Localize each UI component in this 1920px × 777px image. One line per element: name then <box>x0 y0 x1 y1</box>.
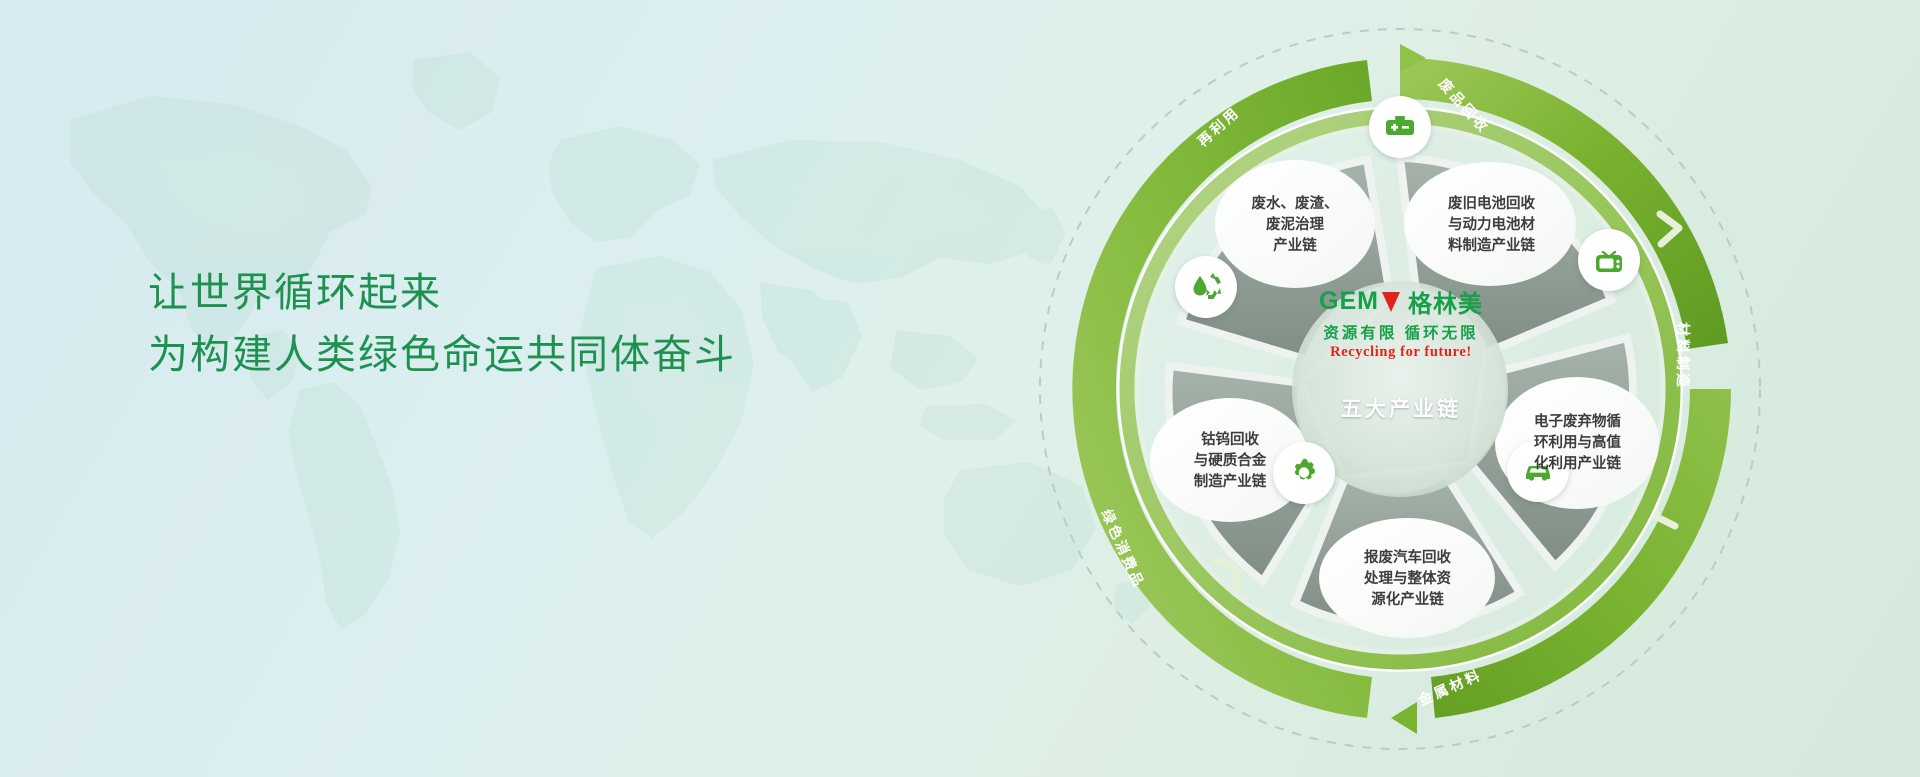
gem-slogan-en: Recycling for future! <box>1271 344 1531 361</box>
segment-vehicle-line-2: 处理与整体资 <box>1325 569 1490 590</box>
gem-logo-chinese: 格林美 <box>1408 284 1483 319</box>
gem-slogan-cn: 资源有限 循环无限 <box>1271 321 1531 343</box>
segment-battery-line-3: 料制造产业链 <box>1409 236 1574 257</box>
television-icon-bubble[interactable] <box>1578 229 1640 291</box>
segment-battery-label: 废旧电池回收 与动力电池材 料制造产业链 <box>1409 194 1574 257</box>
gem-logo-row: GEM 格林美 <box>1271 284 1531 319</box>
segment-wastewater-line-3: 产业链 <box>1215 236 1375 257</box>
segment-wastewater-line-2: 废泥治理 <box>1215 215 1375 236</box>
segment-wastewater-label: 废水、废渣、 废泥治理 产业链 <box>1215 194 1375 257</box>
water-recycle-icon-bubble[interactable] <box>1175 256 1237 318</box>
battery-icon-bubble[interactable] <box>1369 96 1431 158</box>
segment-battery-line-1: 废旧电池回收 <box>1409 194 1574 215</box>
headline: 让世界循环起来 为构建人类绿色命运共同体奋斗 <box>148 262 736 386</box>
water-recycle-icon <box>1188 269 1224 305</box>
segment-cobalt-label: 钴钨回收 与硬质合金 制造产业链 <box>1150 430 1310 493</box>
segment-cobalt-line-3: 制造产业链 <box>1150 472 1310 493</box>
television-icon <box>1592 243 1626 277</box>
segment-wastewater-line-1: 废水、废渣、 <box>1215 194 1375 215</box>
headline-line-1: 让世界循环起来 <box>148 262 736 324</box>
ring-label-material: 材料制造 <box>1673 322 1693 390</box>
gem-logo: GEM 格林美 资源有限 循环无限 Recycling for future! <box>1271 284 1531 361</box>
battery-icon <box>1383 110 1417 144</box>
gem-logo-latin: GEM <box>1319 287 1379 316</box>
gem-logo-triangle-icon <box>1382 292 1400 312</box>
segment-vehicle-label: 报废汽车回收 处理与整体资 源化产业链 <box>1325 548 1490 611</box>
segment-vehicle-line-1: 报废汽车回收 <box>1325 548 1490 569</box>
banner-root: 让世界循环起来 为构建人类绿色命运共同体奋斗 <box>0 0 1920 777</box>
segment-ewaste-line-2: 环利用与高值 <box>1495 433 1660 454</box>
segment-cobalt-line-2: 与硬质合金 <box>1150 451 1310 472</box>
segment-cobalt-line-1: 钴钨回收 <box>1150 430 1310 451</box>
segment-battery-line-2: 与动力电池材 <box>1409 215 1574 236</box>
industry-chain-diagram: 废旧电池回收 与动力电池材 料制造产业链 电子废弃物循 环利用与高值 化利用产业… <box>1015 8 1785 770</box>
headline-line-2: 为构建人类绿色命运共同体奋斗 <box>148 324 736 386</box>
center-subtitle: 五大产业链 <box>1271 393 1531 423</box>
segment-vehicle-line-3: 源化产业链 <box>1325 590 1490 611</box>
arrowhead-bottom <box>1391 702 1417 734</box>
segment-ewaste-line-3: 化利用产业链 <box>1495 454 1660 475</box>
